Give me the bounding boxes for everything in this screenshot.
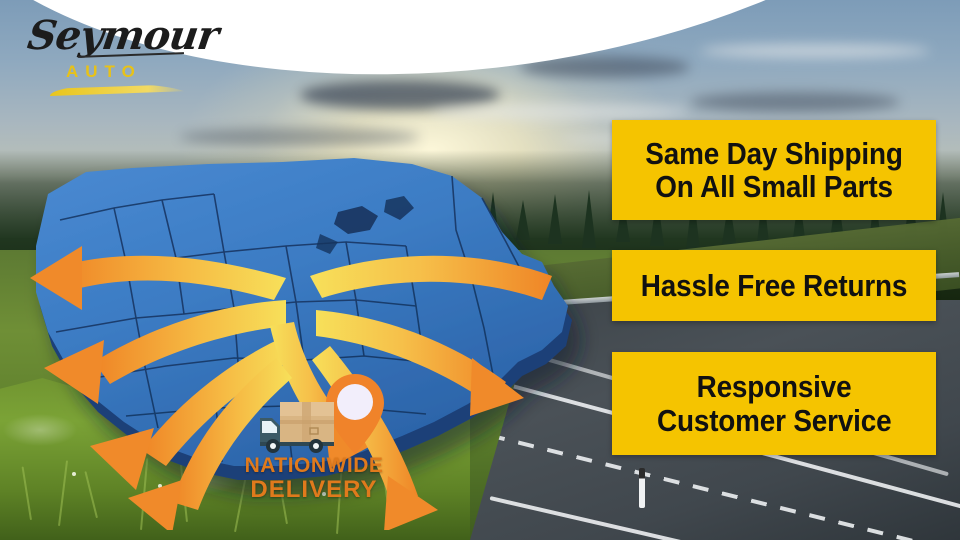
nationwide-line: NATIONWIDE xyxy=(234,455,394,477)
banner-hassle-free-returns[interactable]: Hassle Free Returns xyxy=(612,250,936,321)
banner-responsive-customer-service[interactable]: Responsive Customer Service xyxy=(612,352,936,455)
delivery-line: DELIVERY xyxy=(234,477,394,502)
banner-same-day-shipping[interactable]: Same Day Shipping On All Small Parts xyxy=(612,120,936,220)
promo-banner-image: Seymour AUTO xyxy=(0,0,960,540)
roadside-marker-post xyxy=(639,468,645,508)
banner-1-line-2: On All Small Parts xyxy=(655,170,893,203)
delivery-truck-icon xyxy=(258,396,350,454)
nationwide-delivery-text: NATIONWIDE DELIVERY xyxy=(234,455,394,503)
logo-wordmark: Seymour xyxy=(25,12,221,59)
logo-subtext: AUTO xyxy=(66,62,142,82)
logo-swoosh-icon xyxy=(50,84,190,96)
banner-1-line-1: Same Day Shipping xyxy=(645,137,902,170)
nationwide-delivery-graphic: NATIONWIDE DELIVERY xyxy=(0,150,626,530)
banner-3-line-1: Responsive xyxy=(697,370,852,403)
banner-2-line-1: Hassle Free Returns xyxy=(641,269,907,302)
seymour-auto-logo[interactable]: Seymour AUTO xyxy=(22,10,212,96)
banner-3-line-2: Customer Service xyxy=(657,404,891,437)
